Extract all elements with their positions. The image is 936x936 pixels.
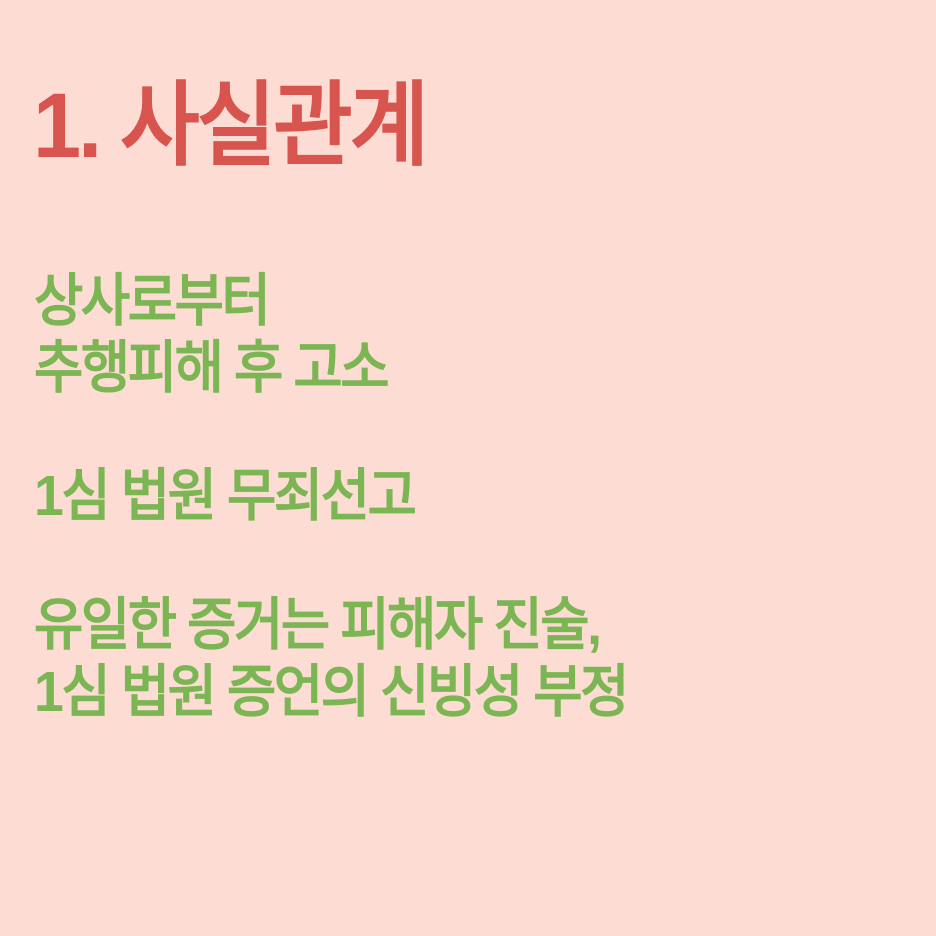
paragraph-line: 유일한 증거는 피해자 진술, — [34, 592, 861, 659]
title-block: 1. 사실관계 — [33, 78, 893, 175]
slide-canvas: 1. 사실관계 상사로부터 추행피해 후 고소 1심 법원 무죄선고 유일한 증… — [0, 0, 936, 936]
paragraph-line: 1심 법원 무죄선고 — [34, 463, 861, 530]
body-text-block: 상사로부터 추행피해 후 고소 1심 법원 무죄선고 유일한 증거는 피해자 진… — [34, 268, 914, 725]
paragraph-incident: 상사로부터 추행피해 후 고소 — [34, 268, 861, 401]
page-title: 1. 사실관계 — [33, 78, 841, 175]
paragraph-evidence-credibility: 유일한 증거는 피해자 진술, 1심 법원 증언의 신빙성 부정 — [34, 592, 861, 725]
paragraph-first-trial-verdict: 1심 법원 무죄선고 — [34, 463, 861, 530]
paragraph-line: 상사로부터 — [34, 268, 861, 335]
paragraph-line: 추행피해 후 고소 — [34, 335, 861, 402]
paragraph-line: 1심 법원 증언의 신빙성 부정 — [34, 659, 861, 726]
